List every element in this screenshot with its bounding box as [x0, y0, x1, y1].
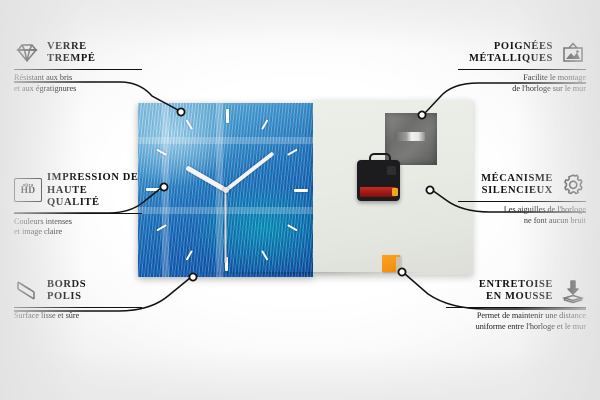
hanger-slot [395, 132, 425, 141]
callout-subtitle: Facilite le montagede l'horloge sur le m… [458, 73, 586, 93]
callout-title: IMPRESSION DEHAUTE QUALITÉ [47, 172, 142, 210]
callout-header: MÉCANISMESILENCIEUX [458, 172, 586, 198]
foam-spacer-icon [560, 278, 586, 304]
callout-subtitle: Permet de maintenir une distanceuniforme… [446, 311, 586, 331]
callout-title: ENTRETOISEEN MOUSSE [479, 279, 553, 304]
callout-mecanisme-silencieux: MÉCANISMESILENCIEUX Les aiguilles de l'h… [458, 172, 586, 226]
clock-tick [146, 188, 160, 191]
clock-tick [185, 119, 192, 130]
callout-entretoise-en-mousse: ENTRETOISEEN MOUSSE Permet de maintenir … [446, 278, 586, 332]
callout-header: POIGNÉESMÉTALLIQUES [458, 40, 586, 66]
clock-tick [185, 250, 192, 261]
clock-back-panel [313, 100, 473, 275]
clock-tick [226, 109, 229, 123]
callout-title: MÉCANISMESILENCIEUX [481, 173, 553, 198]
callout-rule [14, 213, 142, 214]
callout-rule [14, 307, 142, 308]
clock-second-hand [225, 191, 227, 263]
movement-dial [387, 166, 396, 175]
callout-title: BORDSPOLIS [47, 279, 86, 304]
callout-title: VERRETREMPÉ [47, 41, 96, 66]
callout-header: ENTRETOISEEN MOUSSE [446, 278, 586, 304]
product-shadow [136, 272, 476, 284]
glass-grid-line [162, 103, 169, 277]
clock-minute-hand [224, 151, 274, 191]
clock-tick [294, 189, 308, 192]
ultra-hd-icon: ultra HD [14, 178, 40, 204]
clock-center-cap [223, 187, 229, 193]
diamond-icon [14, 40, 40, 66]
infographic-canvas: VERRETREMPÉ Résistant aux briset aux égr… [0, 0, 600, 400]
callout-header: VERRETREMPÉ [14, 40, 142, 66]
foam-spacer [382, 255, 400, 272]
callout-subtitle: Résistant aux briset aux égratignures [14, 73, 142, 93]
callout-poignees-metalliques: POIGNÉESMÉTALLIQUES Facilite le montaged… [458, 40, 586, 94]
callout-subtitle: Les aiguilles de l'horlogene font aucun … [458, 205, 586, 225]
callout-rule [458, 201, 586, 202]
glass-grid-line [138, 137, 313, 144]
callout-header: BORDSPOLIS [14, 278, 142, 304]
movement-hook [369, 153, 391, 164]
callout-subtitle: Surface lisse et sûre [14, 311, 142, 321]
callout-rule [14, 69, 142, 70]
metal-hanger-plate [385, 113, 437, 165]
clock-tick [287, 224, 298, 231]
clock-tick [261, 250, 268, 261]
quartz-movement [357, 160, 400, 201]
callout-title: POIGNÉESMÉTALLIQUES [469, 41, 553, 66]
callout-bords-polis: BORDSPOLIS Surface lisse et sûre [14, 278, 142, 322]
callout-subtitle: Couleurs intenseset image claire [14, 217, 142, 237]
picture-hanger-icon [560, 40, 586, 66]
gear-icon [560, 172, 586, 198]
callout-rule [458, 69, 586, 70]
clock-front-face [138, 103, 313, 277]
callout-rule [446, 307, 586, 308]
polished-edge-icon [14, 278, 40, 304]
clock-tick [287, 149, 298, 156]
battery [360, 187, 396, 197]
callout-verre-trempe: VERRETREMPÉ Résistant aux briset aux égr… [14, 40, 142, 94]
clock-tick [261, 119, 268, 130]
callout-header: ultra HD IMPRESSION DEHAUTE QUALITÉ [14, 172, 142, 210]
callout-impression-haute-qualite: ultra HD IMPRESSION DEHAUTE QUALITÉ Coul… [14, 172, 142, 237]
